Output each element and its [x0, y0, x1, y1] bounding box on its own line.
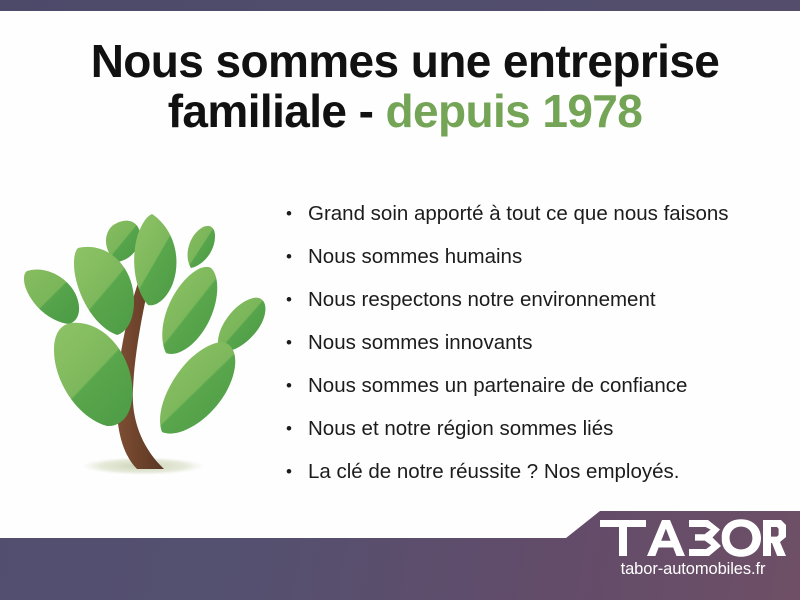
list-item: Nous sommes humains	[286, 235, 766, 278]
list-item: Nous sommes innovants	[286, 321, 766, 364]
list-item: Grand soin apporté à tout ce que nous fa…	[286, 192, 766, 235]
leaf-lower-right	[160, 342, 235, 433]
page-title: Nous sommes une entreprise familiale - d…	[60, 36, 750, 136]
leaf-lower-left	[54, 323, 132, 426]
list-item: Nous sommes un partenaire de confiance	[286, 364, 766, 407]
title-depuis-1978: depuis 1978	[386, 85, 643, 137]
list-item: Nous et notre région sommes liés	[286, 407, 766, 450]
leaf-top-center	[134, 214, 176, 305]
title-familiale: familiale	[168, 85, 347, 137]
list-item: La clé de notre réussite ? Nos employés.	[286, 450, 766, 493]
brand-logo[interactable]: tabor-automobiles.fr	[600, 518, 790, 590]
tabor-wordmark-icon	[600, 518, 786, 558]
logo-tagline: tabor-automobiles.fr	[600, 560, 786, 579]
top-accent-bar	[0, 0, 800, 11]
title-line-1: Nous sommes une entreprise	[60, 36, 750, 86]
leaf-mid-left	[74, 247, 134, 335]
slide-canvas: Nous sommes une entreprise familiale - d…	[0, 0, 800, 600]
bullet-list: Grand soin apporté à tout ce que nous fa…	[286, 192, 766, 493]
title-dash: -	[346, 85, 385, 137]
list-item: Nous respectons notre environnement	[286, 278, 766, 321]
leaf-far-left	[24, 269, 79, 324]
tree-illustration	[12, 185, 276, 480]
leaf-top-right-small	[188, 226, 215, 268]
title-line-2: familiale - depuis 1978	[60, 86, 750, 136]
